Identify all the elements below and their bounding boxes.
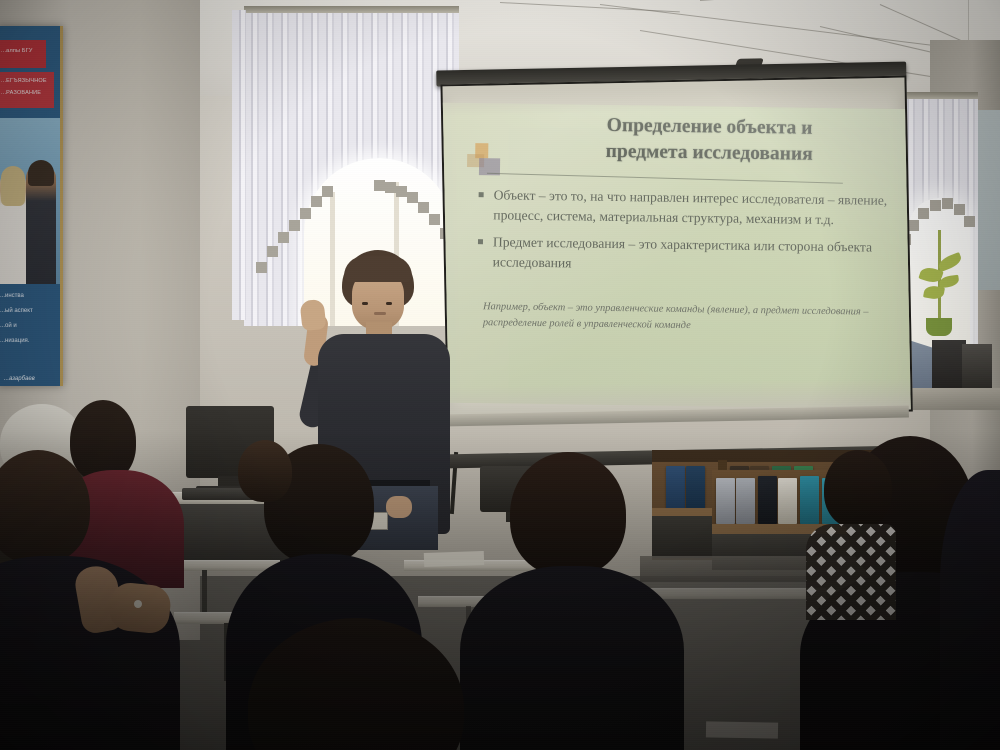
audience-patterned-garment xyxy=(806,524,896,620)
poster-banner-line-2: ...ЕГЪЯЗЫЧНОЕ xyxy=(1,78,47,85)
pull-down-projection-screen: Определение объекта и предмета исследова… xyxy=(436,62,914,471)
slide-title-line-2: предмета исследования xyxy=(509,137,909,168)
slide-bullet-2: Предмет исследования – это характеристик… xyxy=(476,232,907,277)
presenter-fringe xyxy=(344,256,412,282)
document-file-holder-2 xyxy=(962,344,992,388)
blind-rail-right xyxy=(900,92,978,99)
poster-person-left-hair xyxy=(1,166,25,206)
window-left-sliver xyxy=(232,10,246,320)
poster-quote-line-3: ...ой и xyxy=(0,322,17,331)
presenter-raised-hand xyxy=(299,299,326,331)
student-desk-right xyxy=(646,588,826,599)
poster-person-right-hair xyxy=(28,160,54,186)
poster-photo xyxy=(0,118,60,288)
classroom-presentation-photo: ...алпы БГУ ...ЕГЪЯЗЫЧНОЕ ...РАЗОВАНИЕ .… xyxy=(0,0,1000,750)
paper-sheet xyxy=(424,551,484,567)
slide-example-note: Например, объект – это управленческие ко… xyxy=(483,299,895,336)
screen-surface: Определение объекта и предмета исследова… xyxy=(440,76,912,421)
poster-banner-line-1: ...алпы БГУ xyxy=(1,48,33,55)
slide-bullet-1: Объект – это то, на что направлен интере… xyxy=(476,185,907,230)
slide-body: Объект – это то, на что направлен интере… xyxy=(475,185,906,285)
presenter-lowered-hand xyxy=(386,496,412,518)
poster-quote-line-2: ...ый аспект xyxy=(0,307,33,316)
poster-banner-line-3: ...РАЗОВАНИЕ xyxy=(1,90,41,97)
document-file-holder-dark xyxy=(932,340,966,388)
poster-quote-line-1: ...инства xyxy=(0,292,24,301)
poster-quote-line-4: ...низация. xyxy=(0,337,29,346)
blind-rail-left xyxy=(244,6,459,13)
slide-divider-rule xyxy=(487,173,843,184)
slide-title: Определение объекта и предмета исследова… xyxy=(509,112,910,169)
projected-slide: Определение объекта и предмета исследова… xyxy=(440,103,912,410)
audience-hand-right xyxy=(108,581,173,635)
audience-ring xyxy=(134,600,142,608)
wall-poster: ...алпы БГУ ...ЕГЪЯЗЫЧНОЕ ...РАЗОВАНИЕ .… xyxy=(0,26,63,386)
paper-sheet-2 xyxy=(706,721,778,738)
poster-attribution: ...азарбаев xyxy=(4,376,35,382)
